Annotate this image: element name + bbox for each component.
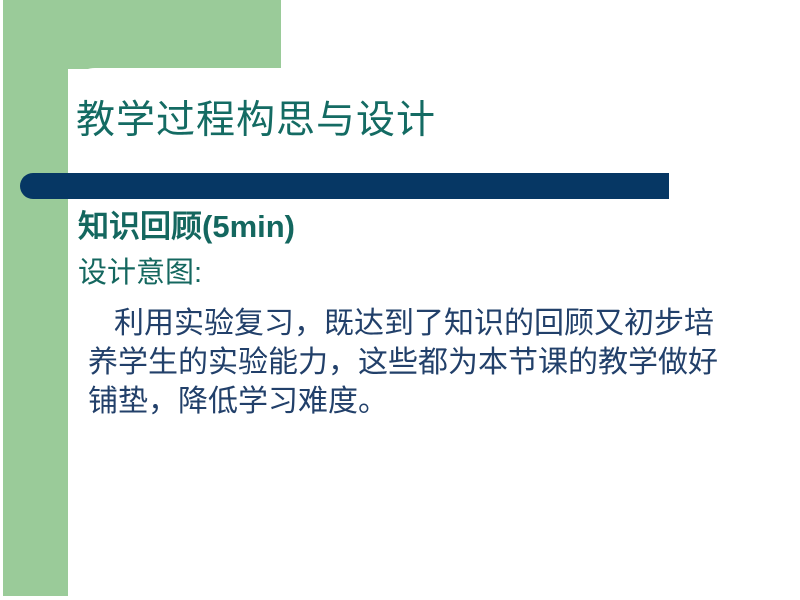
body-paragraph: 利用实验复习，既达到了知识的回顾又初步培养学生的实验能力，这些都为本节课的教学做…	[88, 304, 728, 421]
page-title: 教学过程构思与设计	[76, 97, 776, 145]
presentation-slide: 教学过程构思与设计 知识回顾(5min) 设计意图: 利用实验复习，既达到了知识…	[0, 0, 800, 600]
decorative-green-band	[3, 0, 281, 69]
section-heading: 知识回顾(5min)	[78, 207, 778, 247]
decorative-green-column	[3, 0, 68, 596]
design-intent-label: 设计意图:	[78, 254, 778, 292]
title-underline-bar	[20, 173, 669, 199]
